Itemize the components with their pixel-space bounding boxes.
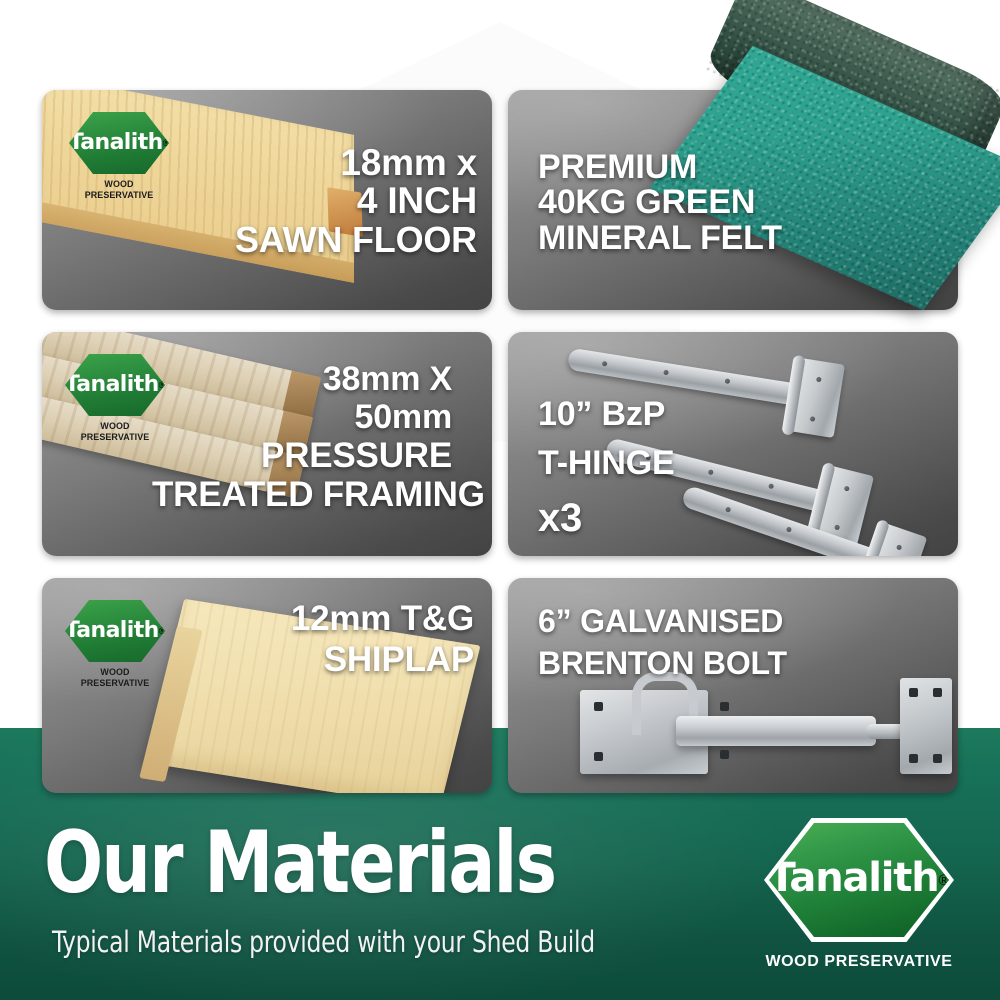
tanalith-tagline: WOOD PRESERVATIVE	[71, 179, 167, 201]
tanalith-logo-small: Tanalith® WOOD PRESERVATIVE	[64, 354, 166, 443]
material-card-brenton-bolt[interactable]: 6” GALVANISED BRENTON BOLT	[508, 578, 958, 793]
poster-root: Tanalith® WOOD PRESERVATIVE 18mm x 4 INC…	[0, 0, 1000, 1000]
tanalith-logo-small: Tanalith® WOOD PRESERVATIVE	[64, 600, 166, 689]
material-card-pressure-treated-framing[interactable]: Tanalith® WOOD PRESERVATIVE 38mm X 50mm …	[42, 332, 492, 556]
caption-brenton-bolt: 6” GALVANISED BRENTON BOLT	[538, 600, 787, 684]
material-card-tg-shiplap[interactable]: Tanalith® WOOD PRESERVATIVE 12mm T&G SHI…	[42, 578, 492, 793]
registered-mark: ®	[159, 380, 166, 390]
tanalith-tagline: WOOD PRESERVATIVE	[742, 953, 976, 971]
caption-shiplap: 12mm T&G SHIPLAP	[232, 598, 474, 681]
tanalith-hexagon-icon: Tanalith®	[65, 354, 165, 416]
footer-title: Our Materials	[44, 822, 555, 905]
tanalith-logo-small: Tanalith® WOOD PRESERVATIVE	[68, 112, 170, 201]
material-card-mineral-felt[interactable]: PREMIUM 40KG GREEN MINERAL FELT	[508, 90, 958, 310]
tanalith-wordmark: Tanalith	[65, 372, 159, 397]
tanalith-wordmark: Tanalith	[768, 855, 938, 901]
tanalith-wordmark: Tanalith	[69, 130, 163, 155]
caption-t-hinge: 10” BzP T-HINGE x3	[538, 390, 675, 547]
material-card-sawn-floor[interactable]: Tanalith® WOOD PRESERVATIVE 18mm x 4 INC…	[42, 90, 492, 310]
tanalith-logo-large: Tanalith® WOOD PRESERVATIVE	[742, 818, 976, 971]
tanalith-hexagon-icon: Tanalith®	[69, 112, 169, 174]
tanalith-wordmark: Tanalith	[65, 618, 159, 643]
tanalith-tagline: WOOD PRESERVATIVE	[67, 667, 163, 689]
footer-subtitle: Typical Materials provided with your She…	[52, 925, 595, 959]
caption-framing: 38mm X 50mm PRESSURE TREATED FRAMING	[202, 360, 452, 515]
registered-mark: ®	[159, 626, 166, 636]
caption-mineral-felt: PREMIUM 40KG GREEN MINERAL FELT	[538, 150, 782, 256]
tanalith-hexagon-icon: Tanalith®	[65, 600, 165, 662]
tanalith-tagline: WOOD PRESERVATIVE	[67, 421, 163, 443]
material-card-t-hinge[interactable]: 10” BzP T-HINGE x3	[508, 332, 958, 556]
caption-sawn-floor: 18mm x 4 INCH SAWN FLOOR	[295, 144, 477, 258]
registered-mark: ®	[163, 138, 170, 148]
